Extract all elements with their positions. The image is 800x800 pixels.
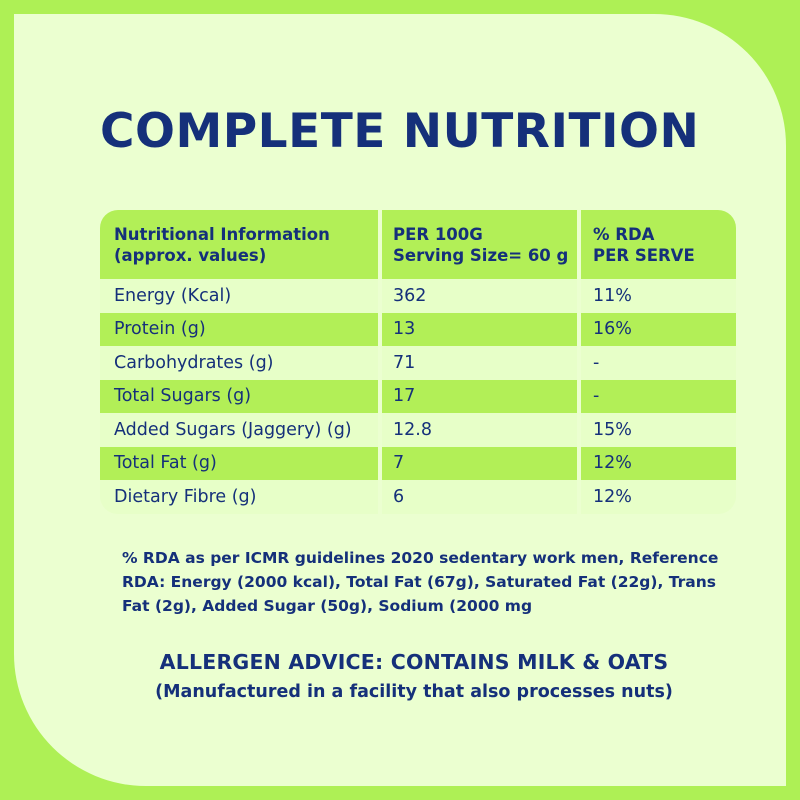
column-divider-1 [378, 480, 382, 514]
table-row: Added Sugars (Jaggery) (g) 12.8 15% [100, 413, 736, 447]
row-rda: 12% [577, 486, 736, 508]
column-divider-2 [577, 447, 581, 481]
table-row: Total Sugars (g) 17 - [100, 380, 736, 414]
inner-panel: COMPLETE NUTRITION Nutritional Informati… [14, 14, 786, 786]
row-value: 362 [378, 285, 577, 307]
column-divider-2 [577, 210, 581, 279]
allergen-advice-subtext: (Manufactured in a facility that also pr… [14, 682, 800, 702]
row-rda: 15% [577, 419, 736, 441]
nutrition-label-card: COMPLETE NUTRITION Nutritional Informati… [0, 0, 800, 800]
header-cell-rda: % RDA PER SERVE [577, 224, 736, 266]
row-value: 12.8 [378, 419, 577, 441]
table-row: Dietary Fibre (g) 6 12% [100, 480, 736, 514]
column-divider-1 [378, 346, 382, 380]
nutrition-table: Nutritional Information (approx. values)… [100, 210, 736, 514]
header-rda-line1: % RDA [593, 224, 736, 245]
row-value: 17 [378, 385, 577, 407]
header-name-line2: (approx. values) [114, 245, 378, 266]
column-divider-2 [577, 480, 581, 514]
column-divider-1 [378, 447, 382, 481]
header-value-line1: PER 100G [393, 224, 577, 245]
row-label: Carbohydrates (g) [100, 352, 378, 374]
row-label: Total Fat (g) [100, 452, 378, 474]
row-rda: - [577, 352, 736, 374]
row-value: 71 [378, 352, 577, 374]
column-divider-1 [378, 313, 382, 347]
allergen-advice-heading: ALLERGEN ADVICE: CONTAINS MILK & OATS [14, 650, 800, 674]
header-name-line1: Nutritional Information [114, 224, 378, 245]
header-value-line2: Serving Size= 60 g [393, 245, 577, 266]
row-label: Energy (Kcal) [100, 285, 378, 307]
row-rda: 16% [577, 318, 736, 340]
column-divider-1 [378, 380, 382, 414]
table-row: Total Fat (g) 7 12% [100, 447, 736, 481]
row-value: 13 [378, 318, 577, 340]
column-divider-2 [577, 346, 581, 380]
row-rda: 12% [577, 452, 736, 474]
row-value: 6 [378, 486, 577, 508]
rda-footnote: % RDA as per ICMR guidelines 2020 sedent… [122, 546, 722, 618]
column-divider-1 [378, 413, 382, 447]
header-cell-value: PER 100G Serving Size= 60 g [378, 224, 577, 266]
row-rda: 11% [577, 285, 736, 307]
column-divider-1 [378, 279, 382, 313]
column-divider-1 [378, 210, 382, 279]
row-label: Total Sugars (g) [100, 385, 378, 407]
row-label: Dietary Fibre (g) [100, 486, 378, 508]
column-divider-2 [577, 279, 581, 313]
row-rda: - [577, 385, 736, 407]
row-label: Protein (g) [100, 318, 378, 340]
table-header-row: Nutritional Information (approx. values)… [100, 210, 736, 279]
column-divider-2 [577, 380, 581, 414]
row-value: 7 [378, 452, 577, 474]
header-cell-name: Nutritional Information (approx. values) [100, 224, 378, 266]
row-label: Added Sugars (Jaggery) (g) [100, 419, 378, 441]
header-rda-line2: PER SERVE [593, 245, 736, 266]
page-title: COMPLETE NUTRITION [100, 108, 740, 155]
column-divider-2 [577, 313, 581, 347]
column-divider-2 [577, 413, 581, 447]
table-row: Carbohydrates (g) 71 - [100, 346, 736, 380]
table-row: Energy (Kcal) 362 11% [100, 279, 736, 313]
table-row: Protein (g) 13 16% [100, 313, 736, 347]
